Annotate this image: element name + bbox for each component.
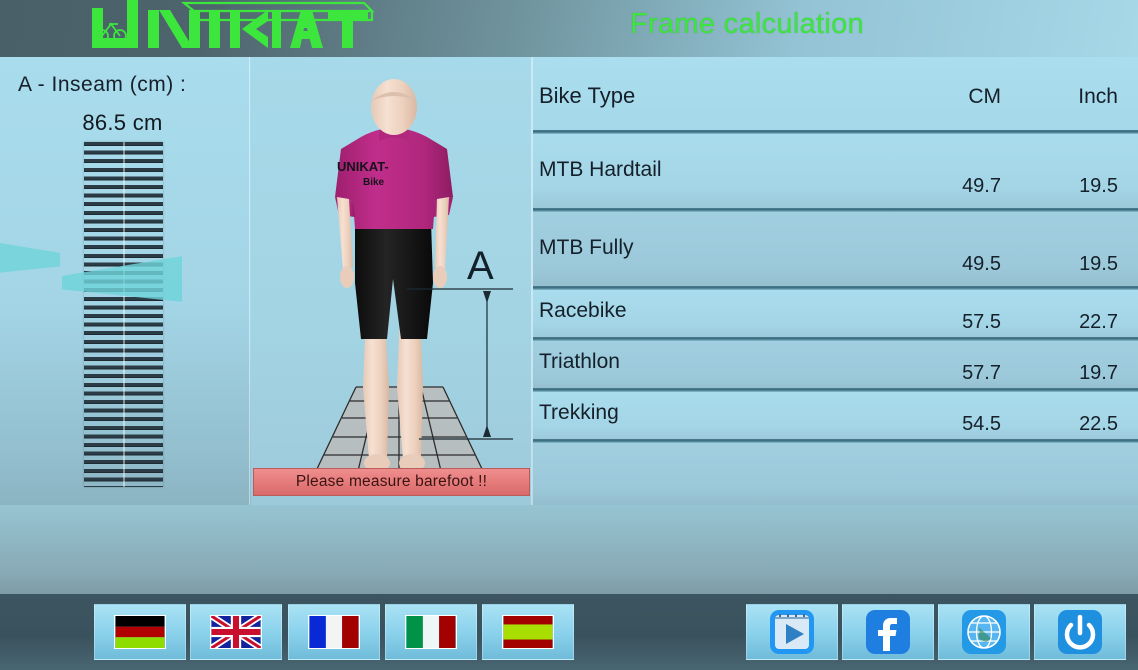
barefoot-warning: Please measure barefoot !! [253, 468, 530, 496]
spanish-flag [502, 615, 554, 649]
main-content: A - Inseam (cm) : 86.5 cm [0, 57, 1138, 594]
content-spacer [0, 505, 1138, 594]
figure-panel: UNIKAT- Bike A [251, 57, 532, 505]
cell-bike-type: MTB Fully [539, 236, 634, 260]
figure-shorts [355, 221, 433, 339]
cell-bike-type: Trekking [539, 401, 619, 425]
table-row[interactable]: Triathlon 57.7 19.7 [533, 341, 1138, 392]
language-button-german[interactable] [94, 604, 186, 660]
inseam-panel: A - Inseam (cm) : 86.5 cm [0, 57, 250, 505]
table-header-row: Bike Type CM Inch [533, 57, 1138, 134]
slider-handle-left[interactable] [0, 230, 60, 282]
german-flag [114, 615, 166, 649]
facebook-button[interactable] [842, 604, 934, 660]
cell-bike-type: Triathlon [539, 350, 620, 374]
cell-cm: 54.5 [911, 413, 1001, 436]
power-icon [1053, 605, 1107, 659]
column-header-inch: Inch [1028, 85, 1118, 109]
power-button[interactable] [1034, 604, 1126, 660]
table-row[interactable]: Trekking 54.5 22.5 [533, 392, 1138, 443]
figure-head [371, 79, 417, 135]
cell-bike-type: MTB Hardtail [539, 158, 662, 182]
play-store-icon [765, 605, 819, 659]
language-button-italian[interactable] [385, 604, 477, 660]
inseam-slider[interactable] [84, 142, 163, 487]
cell-cm: 49.7 [911, 175, 1001, 198]
app-window: Frame calculation A - Inseam (cm) : 86.5… [0, 0, 1138, 670]
play-store-button[interactable] [746, 604, 838, 660]
cell-inch: 19.5 [1028, 253, 1118, 276]
cell-inch: 19.7 [1028, 362, 1118, 385]
table-empty-row [533, 443, 1138, 505]
app-header: Frame calculation [0, 0, 1138, 57]
inseam-label: A - Inseam (cm) : [18, 73, 238, 97]
footer-bar [0, 594, 1138, 670]
cell-cm: 57.7 [911, 362, 1001, 385]
table-row[interactable]: Racebike 57.5 22.7 [533, 290, 1138, 341]
language-button-english[interactable] [190, 604, 282, 660]
uk-flag [210, 615, 262, 649]
facebook-icon [861, 605, 915, 659]
cell-inch: 19.5 [1028, 175, 1118, 198]
cell-cm: 49.5 [911, 253, 1001, 276]
french-flag [308, 615, 360, 649]
dimension-arrow-bottom [483, 425, 491, 437]
table-row[interactable]: MTB Fully 49.5 19.5 [533, 212, 1138, 290]
jersey-logo-line1: UNIKAT- [337, 159, 389, 174]
language-button-spanish[interactable] [482, 604, 574, 660]
figure-jersey [335, 127, 453, 229]
italian-flag [405, 615, 457, 649]
page-title: Frame calculation [630, 8, 1050, 41]
frame-size-table: Bike Type CM Inch MTB Hardtail 49.7 19.5… [533, 57, 1138, 505]
dimension-label: A [467, 244, 494, 288]
cell-inch: 22.7 [1028, 311, 1118, 334]
slider-centerline [123, 142, 124, 487]
globe-icon [957, 605, 1011, 659]
inseam-value: 86.5 cm [0, 110, 245, 136]
language-button-french[interactable] [288, 604, 380, 660]
cell-inch: 22.5 [1028, 413, 1118, 436]
column-header-bike-type: Bike Type [539, 83, 635, 109]
unikat-logo [76, 0, 376, 56]
jersey-logo-line2: Bike [363, 177, 385, 188]
column-header-cm: CM [911, 85, 1001, 109]
panel-divider-left [249, 57, 250, 505]
dimension-arrow-top [483, 291, 491, 303]
website-button[interactable] [938, 604, 1030, 660]
cell-cm: 57.5 [911, 311, 1001, 334]
table-row[interactable]: MTB Hardtail 49.7 19.5 [533, 134, 1138, 212]
cell-bike-type: Racebike [539, 299, 627, 323]
